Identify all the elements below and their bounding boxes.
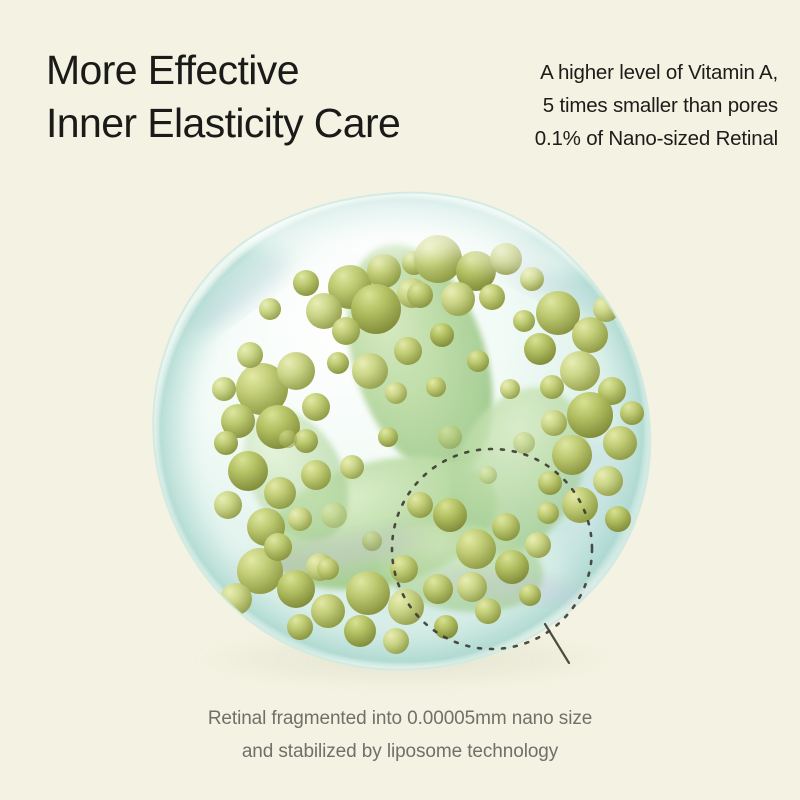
page-title: More Effective Inner Elasticity Care: [46, 44, 476, 151]
figure-caption-line-1: Retinal fragmented into 0.00005mm nano s…: [0, 703, 800, 736]
benefit-copy-line-3: 0.1% of Nano-sized Retinal: [478, 122, 778, 155]
benefit-copy-line-1: A higher level of Vitamin A,: [478, 56, 778, 89]
infographic-page: More Effective Inner Elasticity Care A h…: [0, 0, 800, 800]
benefit-copy-line-2: 5 times smaller than pores: [478, 89, 778, 122]
liposome-sphere-illustration: [120, 175, 680, 695]
figure-caption-line-2: and stabilized by liposome technology: [0, 736, 800, 769]
magnifier-leader-line: [545, 624, 569, 663]
figure-caption: Retinal fragmented into 0.00005mm nano s…: [0, 703, 800, 768]
benefit-copy: A higher level of Vitamin A, 5 times sma…: [478, 56, 778, 156]
